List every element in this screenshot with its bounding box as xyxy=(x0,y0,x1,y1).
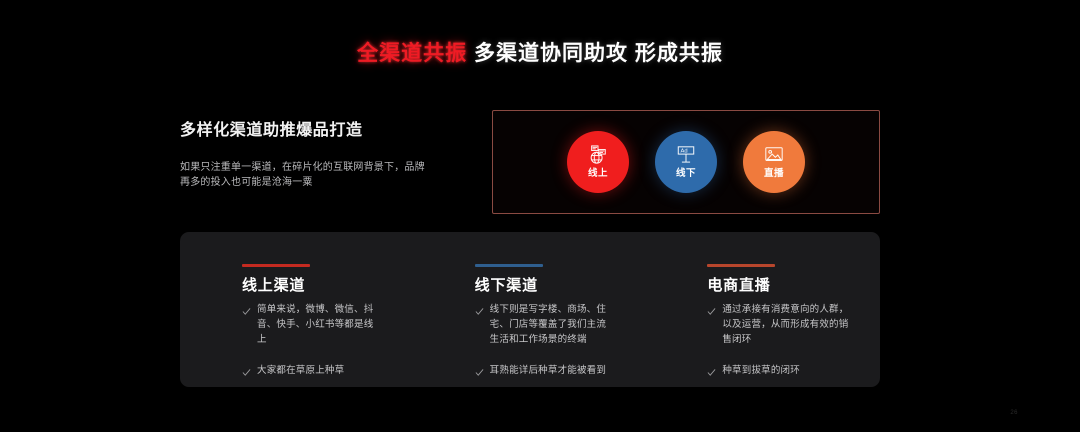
column-title-offline: 线下渠道 xyxy=(475,276,648,296)
list-item-text: 线下则是写字楼、商场、住宅、门店等覆盖了我们主流生活和工作场景的终端 xyxy=(490,302,614,347)
image-picture-icon xyxy=(763,145,785,165)
channel-circle-offline[interactable]: Ad 线下 xyxy=(655,131,717,193)
check-icon xyxy=(707,303,716,316)
bullet-list-offline: 线下则是写字楼、商场、住宅、门店等覆盖了我们主流生活和工作场景的终端 耳熟能详后… xyxy=(475,302,648,378)
channel-circle-live[interactable]: 直播 xyxy=(743,131,805,193)
list-item-text: 耳熟能详后种草才能被看到 xyxy=(490,363,614,378)
detail-column-live: 电商直播 通过承接有消费意向的人群，以及运营，从而形成有效的销售闭环 种草到拔草… xyxy=(707,264,880,387)
channel-label-live: 直播 xyxy=(764,168,784,179)
channels-detail-card: 线上渠道 简单来说，微博、微信、抖音、快手、小红书等都是线上 大家都在草原上种草… xyxy=(180,232,880,387)
check-icon xyxy=(242,364,251,377)
check-icon xyxy=(242,303,251,316)
check-icon xyxy=(475,303,484,316)
page-title-accent: 全渠道共振 xyxy=(357,42,467,65)
detail-column-online: 线上渠道 简单来说，微博、微信、抖音、快手、小红书等都是线上 大家都在草原上种草 xyxy=(242,264,415,387)
channels-panel: 线上 Ad 线下 直播 xyxy=(492,110,880,214)
check-icon xyxy=(707,364,716,377)
column-rule-live xyxy=(707,264,775,267)
page-title: 全渠道共振 多渠道协同助攻 形成共振 xyxy=(0,40,1080,68)
channel-label-online: 线上 xyxy=(588,168,608,179)
channel-circle-online[interactable]: 线上 xyxy=(567,131,629,193)
list-item-text: 简单来说，微博、微信、抖音、快手、小红书等都是线上 xyxy=(257,302,381,347)
list-item-text: 大家都在草原上种草 xyxy=(257,363,381,378)
channel-label-offline: 线下 xyxy=(676,168,696,179)
list-item: 通过承接有消费意向的人群，以及运营，从而形成有效的销售闭环 xyxy=(707,302,880,347)
globe-network-icon xyxy=(587,145,609,165)
list-item: 种草到拔草的闭环 xyxy=(707,363,880,378)
intro-block: 多样化渠道助推爆品打造 如果只注重单一渠道，在碎片化的互联网背景下，品牌再多的投… xyxy=(180,120,450,190)
intro-body: 如果只注重单一渠道，在碎片化的互联网背景下，品牌再多的投入也可能是沧海一粟 xyxy=(180,160,430,190)
list-item: 线下则是写字楼、商场、住宅、门店等覆盖了我们主流生活和工作场景的终端 xyxy=(475,302,648,347)
bullet-list-online: 简单来说，微博、微信、抖音、快手、小红书等都是线上 大家都在草原上种草 xyxy=(242,302,415,378)
list-item-text: 种草到拔草的闭环 xyxy=(722,363,854,378)
column-rule-offline xyxy=(475,264,543,267)
list-item-text: 通过承接有消费意向的人群，以及运营，从而形成有效的销售闭环 xyxy=(722,302,854,347)
page-number: 26 xyxy=(1010,410,1018,416)
list-item: 大家都在草原上种草 xyxy=(242,363,415,378)
check-icon xyxy=(475,364,484,377)
column-title-online: 线上渠道 xyxy=(242,276,415,296)
column-title-live: 电商直播 xyxy=(707,276,880,296)
page-title-rest: 多渠道协同助攻 形成共振 xyxy=(474,42,723,65)
svg-text:Ad: Ad xyxy=(681,149,688,155)
intro-heading: 多样化渠道助推爆品打造 xyxy=(180,120,450,142)
list-item: 简单来说，微博、微信、抖音、快手、小红书等都是线上 xyxy=(242,302,415,347)
column-rule-online xyxy=(242,264,310,267)
ad-billboard-icon: Ad xyxy=(675,145,697,165)
bullet-list-live: 通过承接有消费意向的人群，以及运营，从而形成有效的销售闭环 种草到拔草的闭环 xyxy=(707,302,880,378)
detail-column-offline: 线下渠道 线下则是写字楼、商场、住宅、门店等覆盖了我们主流生活和工作场景的终端 … xyxy=(475,264,648,387)
list-item: 耳熟能详后种草才能被看到 xyxy=(475,363,648,378)
